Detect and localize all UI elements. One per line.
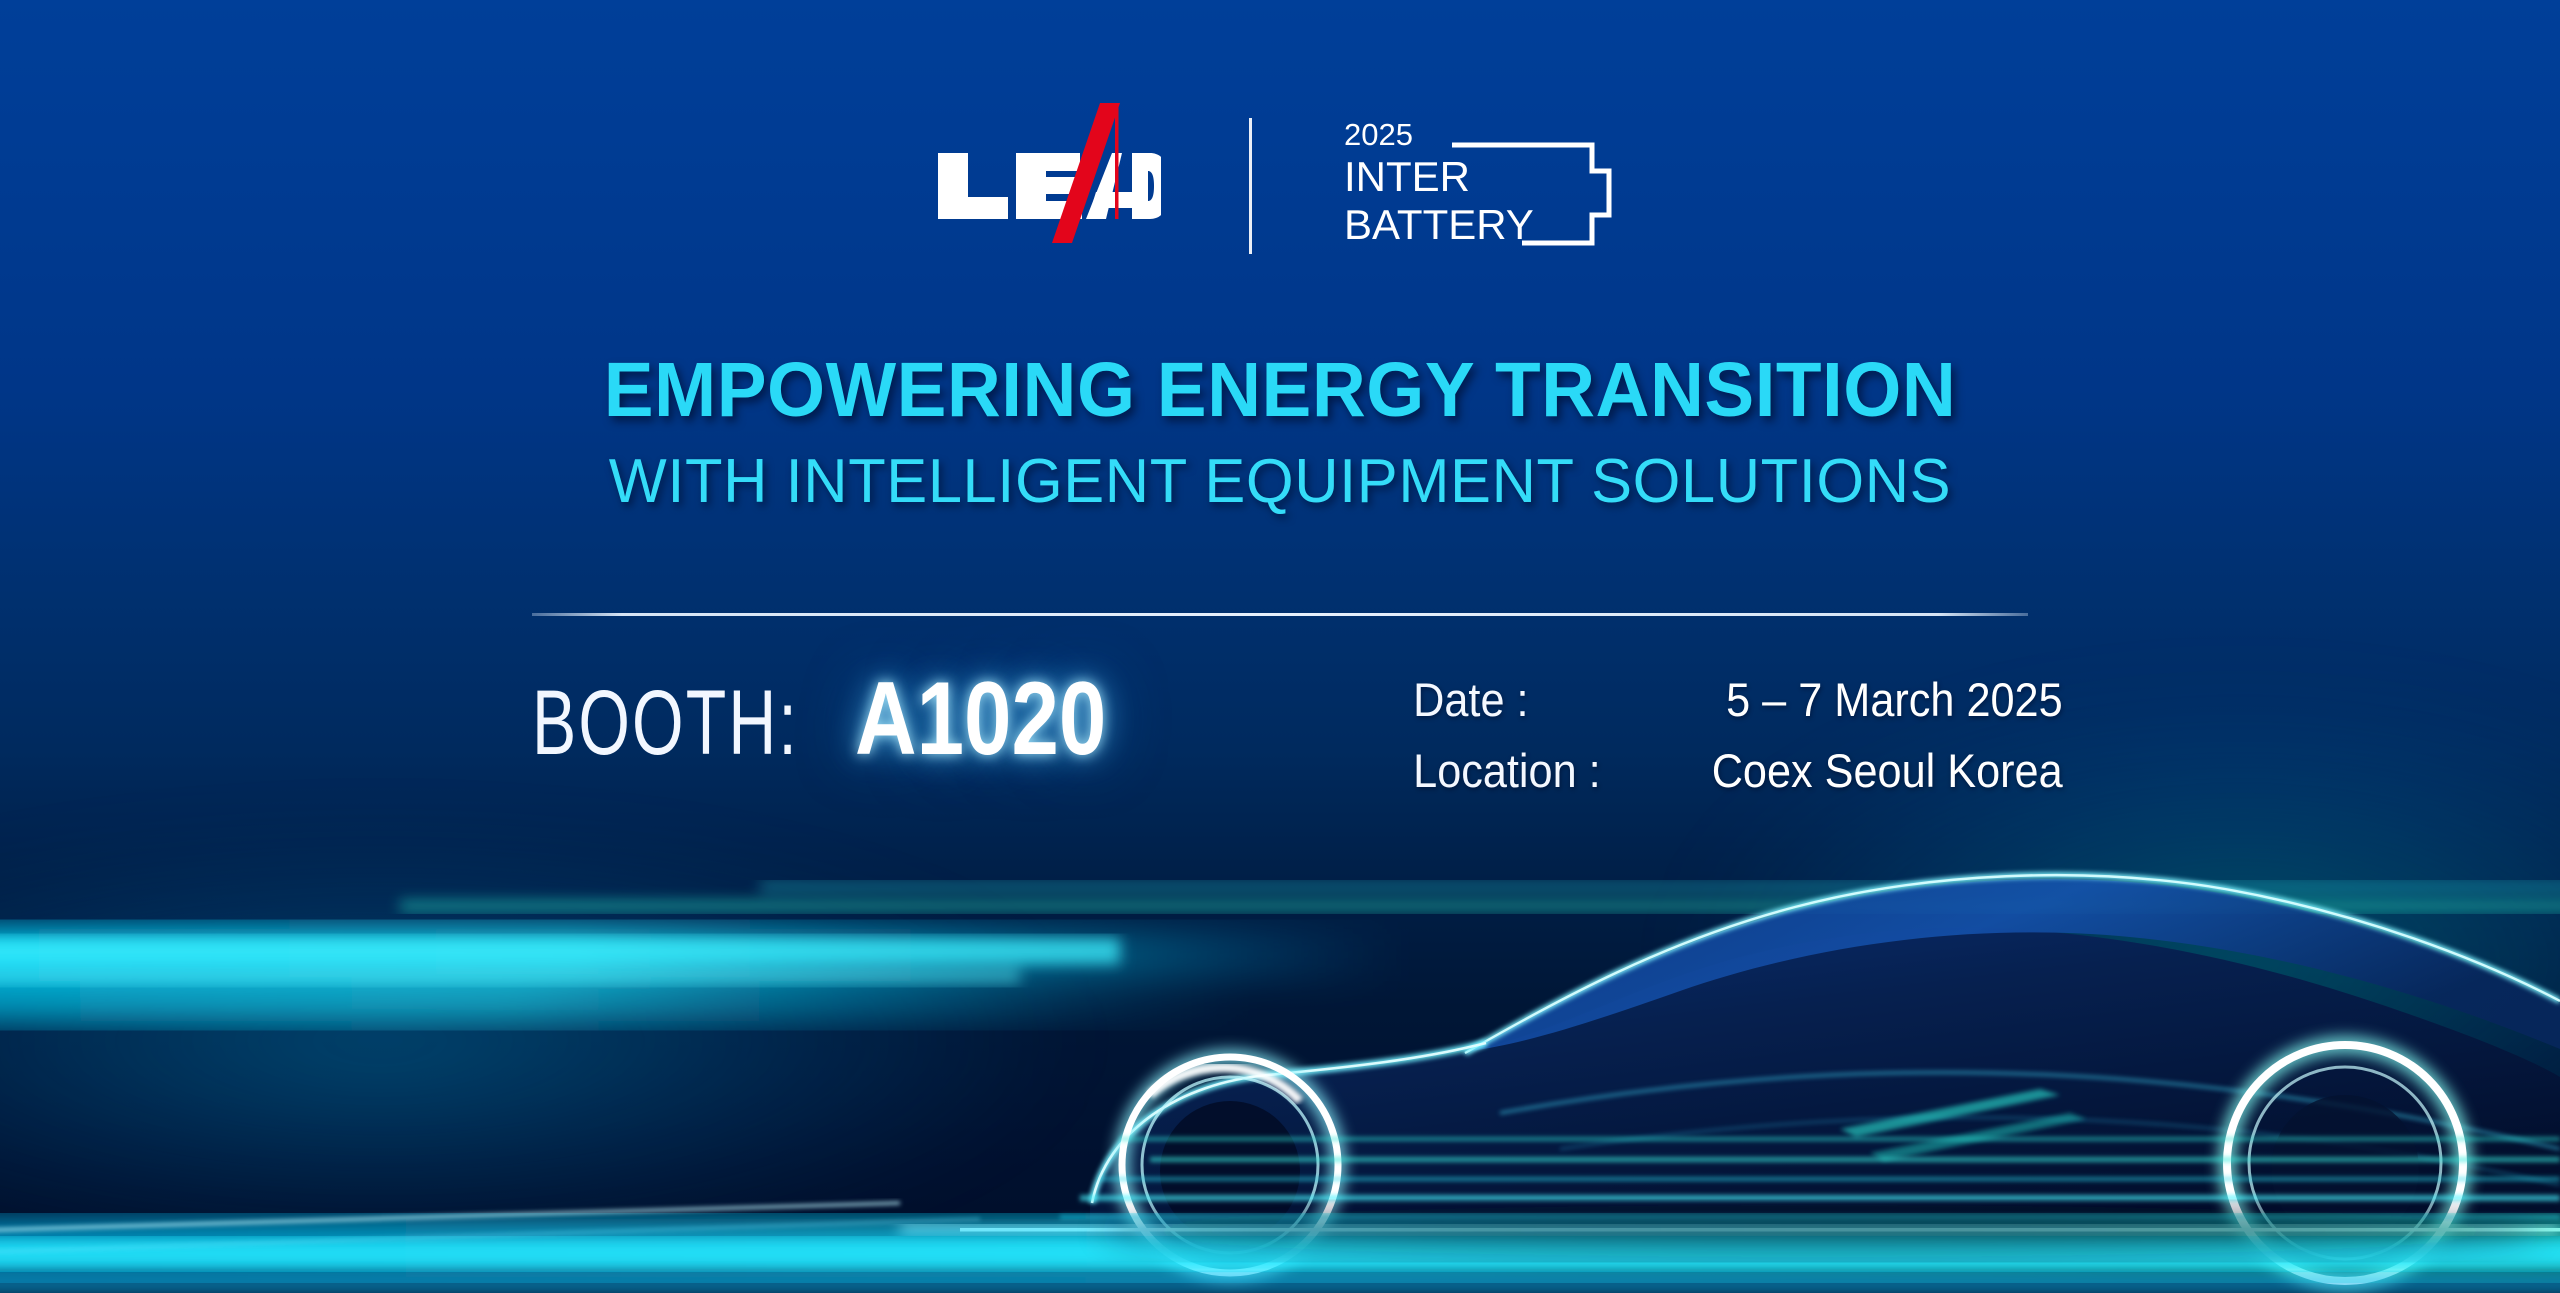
lead-logo (936, 126, 1161, 246)
location-label: Location : (1413, 743, 1601, 798)
svg-text:BATTERY: BATTERY (1344, 201, 1534, 248)
svg-text:2025: 2025 (1344, 119, 1413, 152)
location-value: Coex Seoul Korea (1645, 743, 2062, 798)
subheadline: WITH INTELLIGENT EQUIPMENT SOLUTIONS (13, 451, 2547, 513)
booth-label: BOOTH: (532, 671, 799, 776)
date-label: Date : (1413, 672, 1601, 727)
hero-text-block: EMPOWERING ENERGY TRANSITION WITH INTELL… (0, 352, 2560, 513)
event-details: Date : 5 – 7 March 2025 Location : Coex … (1405, 672, 2081, 798)
booth-number: A1020 (855, 660, 1106, 779)
logo-divider (1249, 118, 1252, 254)
neon-sports-car-artwork (0, 733, 2560, 1293)
booth-row: BOOTH: A1020 (532, 660, 1161, 779)
svg-text:INTER: INTER (1344, 153, 1470, 200)
left-glow-wash (0, 700, 1400, 1293)
inter-battery-logo: 2025 INTER BATTERY (1344, 119, 1624, 254)
date-value: 5 – 7 March 2025 (1645, 672, 2062, 727)
promo-banner: 2025 INTER BATTERY EMPOWERING ENERGY TRA… (0, 0, 2560, 1293)
section-divider (532, 613, 2028, 616)
headline: EMPOWERING ENERGY TRANSITION (38, 352, 2521, 429)
logo-row: 2025 INTER BATTERY (0, 96, 2560, 276)
